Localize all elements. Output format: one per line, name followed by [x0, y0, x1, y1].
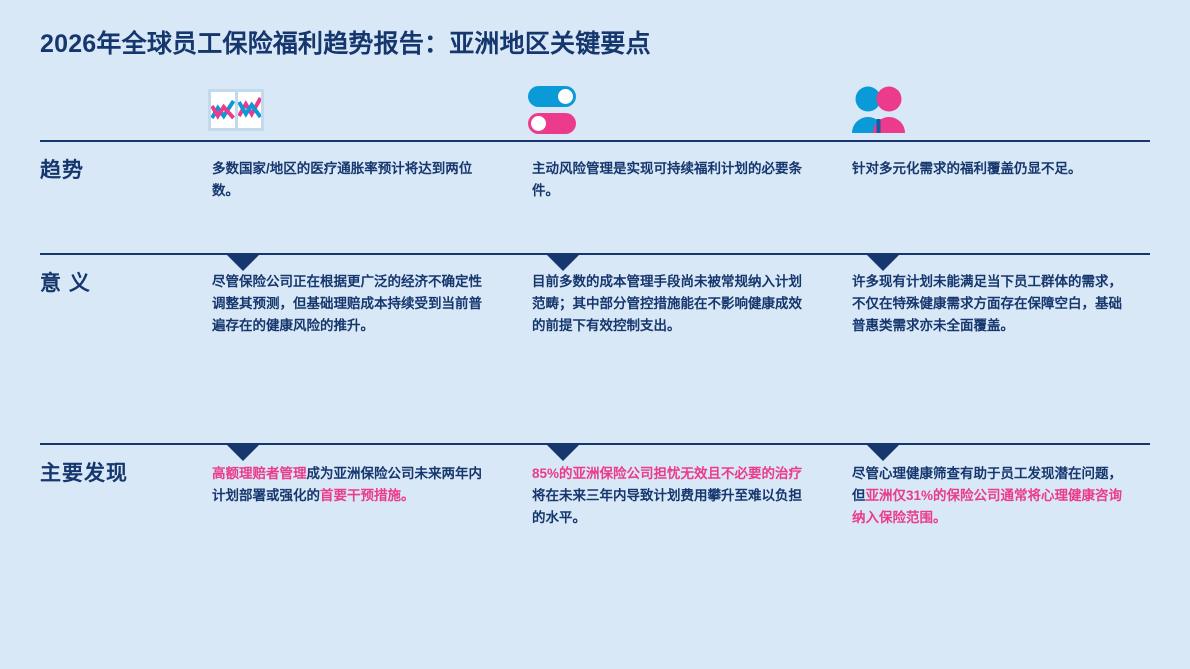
body-text: 目前多数的成本管理手段尚未被常规纳入计划范畴；其中部分管控措施能在不影响健康成效…: [532, 274, 802, 333]
row-divider: [40, 253, 1150, 255]
icon-cell-column-2: [528, 82, 648, 138]
toggle-switch-on-icon: [528, 86, 576, 107]
toggle-switches-icon: [528, 84, 584, 136]
body-text: 多数国家/地区的医疗通胀率预计将达到两位数。: [212, 161, 472, 198]
triangle-marker-icon: [546, 254, 580, 271]
cell-implications-column-3: 许多现有计划未能满足当下员工群体的需求，不仅在特殊健康需求方面存在保障空白，基础…: [852, 271, 1124, 337]
cell-trends-column-1: 多数国家/地区的医疗通胀率预计将达到两位数。: [212, 158, 484, 202]
page-title: 2026年全球员工保险福利趋势报告：亚洲地区关键要点: [40, 24, 651, 60]
highlighted-text: 高额理赔者管理: [212, 466, 307, 481]
row-divider: [40, 140, 1150, 142]
triangle-marker-icon: [866, 254, 900, 271]
row-divider: [40, 443, 1150, 445]
cell-trends-column-2: 主动风险管理是实现可持续福利计划的必要条件。: [532, 158, 804, 202]
triangle-marker-icon: [226, 444, 260, 461]
cell-trends-column-3: 针对多元化需求的福利覆盖仍显不足。: [852, 158, 1124, 180]
row-label-key-findings: 主要发现: [40, 457, 128, 487]
toggle-knob: [558, 89, 573, 104]
cell-implications-column-1: 尽管保险公司正在根据更广泛的经济不确定性调整其预测，但基础理赔成本持续受到当前普…: [212, 271, 484, 337]
row-label-implications: 意 义: [40, 267, 91, 297]
highlighted-text: 亚洲仅31%的保险公司通常将心理健康咨询纳入保险范围。: [852, 488, 1122, 525]
triangle-marker-icon: [546, 444, 580, 461]
icon-cell-column-1: [208, 82, 328, 138]
trend-chart-icon: [208, 89, 264, 131]
triangle-marker-icon: [226, 254, 260, 271]
body-text: 许多现有计划未能满足当下员工群体的需求，不仅在特殊健康需求方面存在保障空白，基础…: [852, 274, 1122, 333]
cell-key-findings-column-1: 高额理赔者管理成为亚洲保险公司未来两年内计划部署或强化的首要干预措施。: [212, 463, 484, 507]
cell-key-findings-column-2: 85%的亚洲保险公司担忧无效且不必要的治疗将在未来三年内导致计划费用攀升至难以负…: [532, 463, 804, 529]
row-label-trends: 趋势: [40, 154, 84, 184]
body-text: 主动风险管理是实现可持续福利计划的必要条件。: [532, 161, 802, 198]
cell-key-findings-column-3: 尽管心理健康筛查有助于员工发现潜在问题，但亚洲仅31%的保险公司通常将心理健康咨…: [852, 463, 1124, 529]
highlighted-text: 首要干预措施。: [320, 488, 415, 503]
body-text: 将在未来三年内导致计划费用攀升至难以负担的水平。: [532, 488, 802, 525]
toggle-switch-off-icon: [528, 113, 576, 134]
cell-implications-column-2: 目前多数的成本管理手段尚未被常规纳入计划范畴；其中部分管控措施能在不影响健康成效…: [532, 271, 804, 337]
highlighted-text: 85%的亚洲保险公司担忧无效且不必要的治疗: [532, 466, 802, 481]
triangle-marker-icon: [866, 444, 900, 461]
icon-row: [0, 82, 1190, 138]
two-people-icon: [848, 86, 910, 134]
trend-chart-pane-right: [238, 92, 262, 128]
body-text: 尽管保险公司正在根据更广泛的经济不确定性调整其预测，但基础理赔成本持续受到当前普…: [212, 274, 482, 333]
toggle-knob: [531, 116, 546, 131]
body-text: 针对多元化需求的福利覆盖仍显不足。: [852, 161, 1082, 176]
icon-cell-column-3: [848, 82, 968, 138]
trend-chart-pane-left: [211, 92, 235, 128]
